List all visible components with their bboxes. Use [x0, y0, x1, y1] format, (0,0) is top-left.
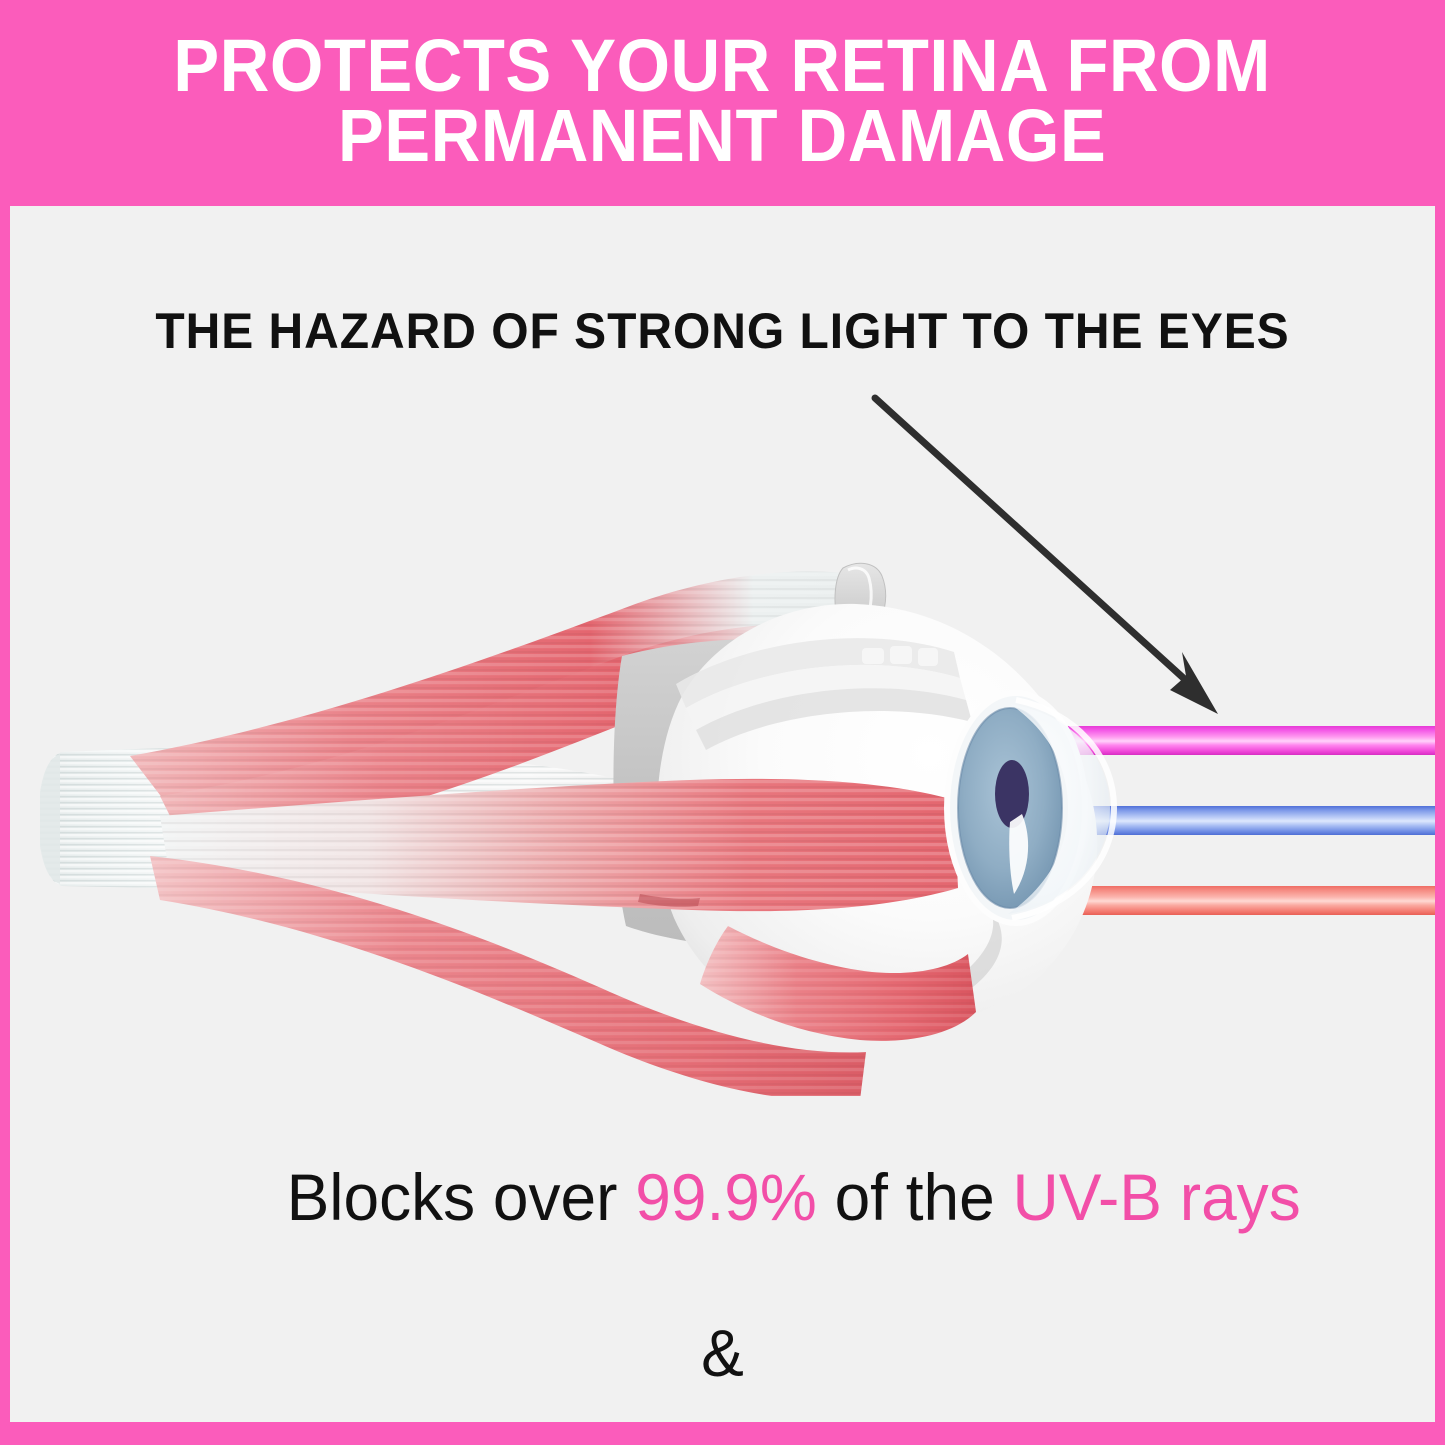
- caption-line-3: Over 99% of UV-A rays while: [31, 1393, 1413, 1423]
- pupil: [995, 760, 1029, 828]
- content-panel: THE HAZARD OF STRONG LIGHT TO THE EYES: [10, 206, 1435, 1422]
- caption-uvb-percent: 99.9%: [635, 1160, 817, 1234]
- caption-l1-b: of the: [817, 1160, 1013, 1234]
- eye-illustration: [10, 456, 1435, 1096]
- caption-l1-a: Blocks over: [287, 1160, 636, 1234]
- caption-uvb-label: UV-B rays: [1013, 1160, 1301, 1234]
- caption-line-1: Blocks over 99.9% of the UV-B rays: [31, 1081, 1413, 1315]
- benefit-caption: Blocks over 99.9% of the UV-B rays & Ove…: [31, 1081, 1413, 1422]
- header-banner: PROTECTS YOUR RETINA FROM PERMANENT DAMA…: [0, 0, 1445, 206]
- poster-root: PROTECTS YOUR RETINA FROM PERMANENT DAMA…: [0, 0, 1445, 1445]
- caption-line-2: &: [31, 1315, 1413, 1393]
- section-subtitle: THE HAZARD OF STRONG LIGHT TO THE EYES: [39, 302, 1407, 360]
- page-title: PROTECTS YOUR RETINA FROM PERMANENT DAMA…: [174, 31, 1272, 174]
